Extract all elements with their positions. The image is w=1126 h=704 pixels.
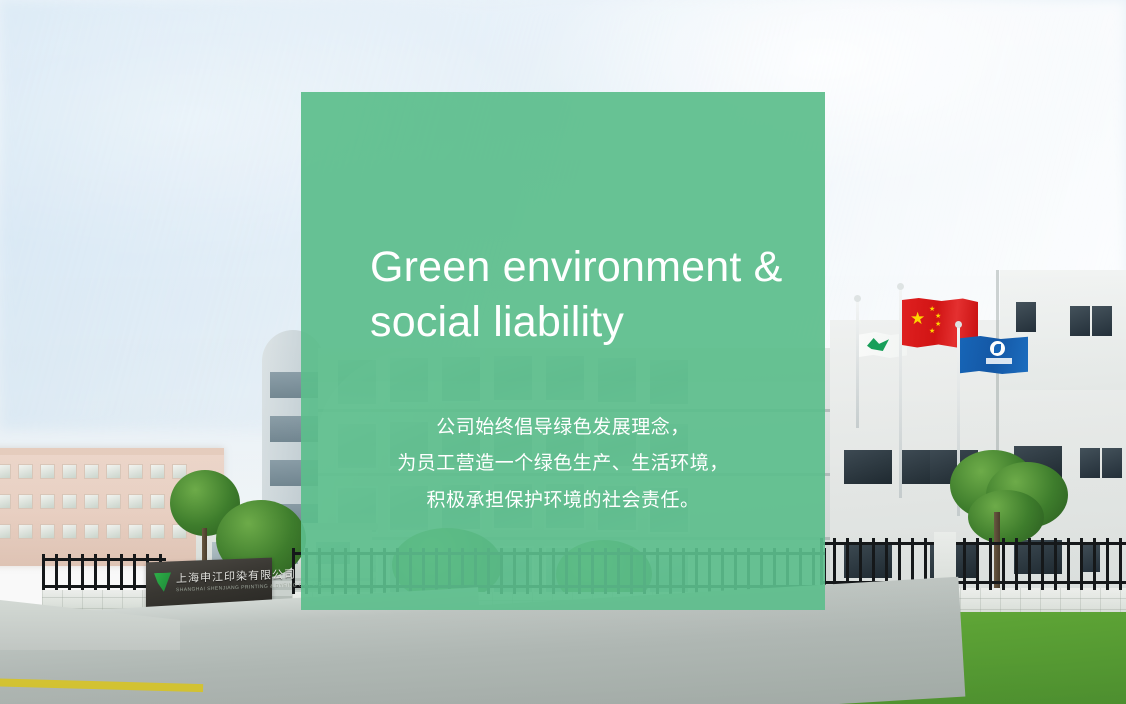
banner-body-text: 公司始终倡导绿色发展理念， 为员工营造一个绿色生产、生活环境， 积极承担保护环境… xyxy=(301,410,825,519)
flagpole-china xyxy=(899,288,902,498)
road-yellow-line xyxy=(0,677,203,692)
overlay-content: Green environment & social liability 公司始… xyxy=(301,92,825,610)
body-line-3: 积极承担保护环境的社会责任。 xyxy=(301,483,825,519)
hero-banner: ★★ ★★ ★ xyxy=(0,0,1126,704)
banner-heading: Green environment & social liability xyxy=(370,240,830,351)
body-line-2: 为员工营造一个绿色生产、生活环境， xyxy=(301,446,825,482)
company-logo-icon xyxy=(154,572,171,592)
company-blue-flag xyxy=(960,336,1028,374)
body-line-1: 公司始终倡导绿色发展理念， xyxy=(301,410,825,446)
flagpole-green xyxy=(856,300,859,428)
